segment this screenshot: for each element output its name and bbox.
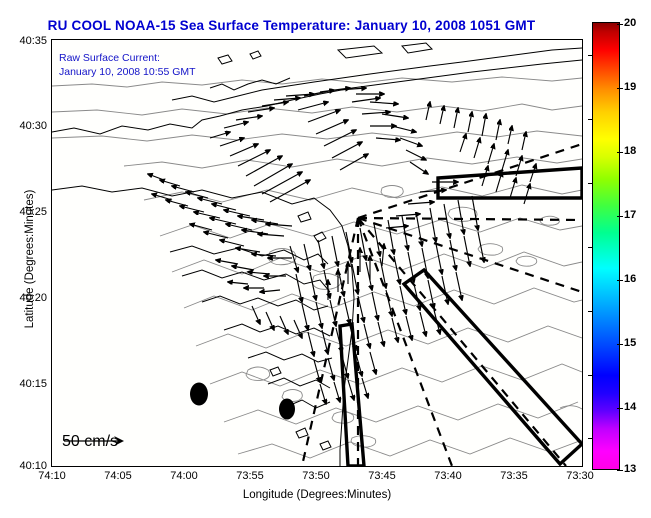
colorbar-ticks: 20 19 18 17 16 15 14 13 bbox=[592, 22, 651, 470]
station-marker-layer bbox=[190, 383, 295, 420]
x-tick: 74:05 bbox=[104, 470, 132, 482]
station-marker bbox=[279, 399, 295, 420]
y-axis-ticks: 40:35 40:30 40:25 40:20 40:15 40:10 bbox=[0, 39, 47, 467]
vector-scale-arrow-icon bbox=[62, 433, 132, 449]
colorbar-tick: 20 bbox=[624, 17, 636, 29]
x-tick: 74:10 bbox=[38, 470, 66, 482]
scale-legend: 50 cm/s bbox=[62, 433, 118, 451]
y-tick: 40:30 bbox=[19, 120, 47, 132]
y-tick: 40:35 bbox=[19, 35, 47, 47]
colorbar-tick: 17 bbox=[624, 209, 636, 221]
colorbar-tick: 13 bbox=[624, 463, 636, 475]
coastline-layer bbox=[52, 43, 582, 466]
colorbar-tick: 19 bbox=[624, 81, 636, 93]
annotation-line-2: January 10, 2008 10:55 GMT bbox=[59, 65, 196, 79]
x-axis-label: Longitude (Degrees:Minutes) bbox=[51, 489, 583, 501]
x-tick: 73:40 bbox=[434, 470, 462, 482]
sst-current-map-figure: RU COOL NOAA-15 Sea Surface Temperature:… bbox=[0, 0, 651, 518]
x-axis-ticks: 74:10 74:05 74:00 73:55 73:50 73:45 73:4… bbox=[51, 470, 583, 488]
y-tick: 40:20 bbox=[19, 292, 47, 304]
surface-current-vector-layer bbox=[148, 88, 536, 404]
colorbar-tick: 14 bbox=[624, 401, 636, 413]
colorbar-tick: 18 bbox=[624, 145, 636, 157]
annotation-line-1: Raw Surface Current: bbox=[59, 51, 196, 65]
x-tick: 74:00 bbox=[170, 470, 198, 482]
station-marker bbox=[190, 383, 208, 406]
y-tick: 40:25 bbox=[19, 206, 47, 218]
y-tick: 40:15 bbox=[19, 378, 47, 390]
colorbar-tick: 16 bbox=[624, 273, 636, 285]
colorbar-tick: 15 bbox=[624, 337, 636, 349]
page-title: RU COOL NOAA-15 Sea Surface Temperature:… bbox=[0, 18, 583, 33]
raw-surface-current-annotation: Raw Surface Current: January 10, 2008 10… bbox=[59, 51, 196, 79]
x-tick: 73:50 bbox=[302, 470, 330, 482]
x-tick: 73:45 bbox=[368, 470, 396, 482]
map-plot-area[interactable]: Raw Surface Current: January 10, 2008 10… bbox=[51, 39, 583, 467]
x-tick: 73:30 bbox=[566, 470, 594, 482]
x-tick: 73:55 bbox=[236, 470, 264, 482]
x-tick: 73:35 bbox=[500, 470, 528, 482]
